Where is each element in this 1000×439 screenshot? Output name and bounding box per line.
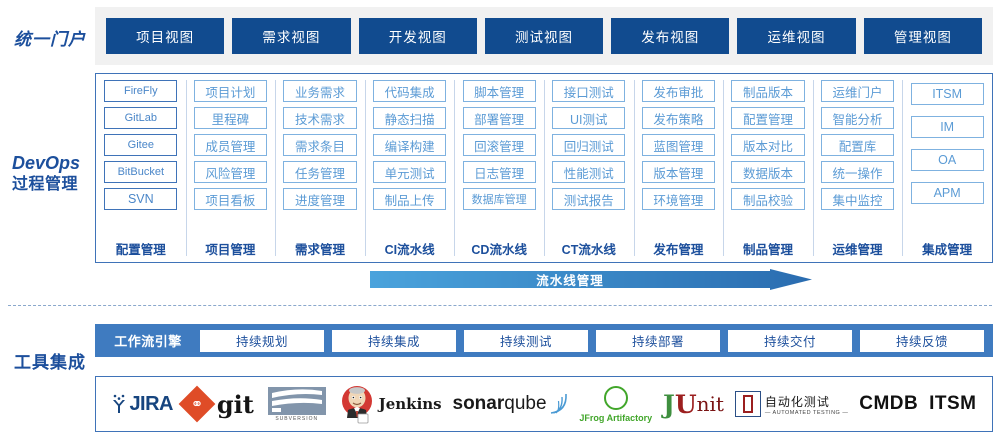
devops-row-label-en: DevOps: [12, 152, 80, 175]
devops-column-cells: ITSMIMOAAPM: [907, 80, 987, 236]
devops-capability-cell[interactable]: 制品校验: [731, 188, 804, 210]
portal-view-button[interactable]: 需求视图: [232, 18, 350, 54]
jenkins-logo: Jenkins: [340, 381, 442, 427]
devops-capability-cell[interactable]: 成员管理: [194, 134, 267, 156]
devops-capability-cell[interactable]: 回归测试: [552, 134, 625, 156]
sonarqube-logo-text-light: qube: [504, 393, 546, 415]
jenkins-logo-text: Jenkins: [379, 395, 442, 413]
devops-capability-cell[interactable]: 代码集成: [373, 80, 446, 102]
devops-column-title: 项目管理: [205, 239, 255, 258]
automated-testing-logo: 自动化测试 — AUTOMATED TESTING —: [735, 381, 849, 427]
workflow-stage[interactable]: 持续测试: [464, 330, 588, 352]
devops-capability-cell[interactable]: 配置库: [821, 134, 894, 156]
devops-capability-cell[interactable]: Gitee: [104, 134, 177, 156]
subversion-logo: SUBVERSION: [265, 381, 329, 427]
devops-column-cells: 脚本管理部署管理回滚管理日志管理数据库管理: [459, 80, 539, 236]
devops-column-cells: 制品版本配置管理版本对比数据版本制品校验: [728, 80, 808, 236]
devops-capability-cell[interactable]: SVN: [104, 188, 177, 210]
section-divider: [8, 305, 992, 306]
devops-row-label-cn: 过程管理: [12, 175, 80, 195]
devops-column: FireFlyGitLabGiteeBitBucketSVN配置管理: [96, 74, 186, 262]
cmdb-logo: CMDB: [859, 381, 918, 427]
devops-column-cells: 业务需求技术需求需求条目任务管理进度管理: [280, 80, 360, 236]
devops-column-title: 运维管理: [833, 239, 883, 258]
tool-logo-strip: JIRA ⚭ git SUBVERSION: [95, 376, 993, 432]
devops-capability-cell[interactable]: 性能测试: [552, 161, 625, 183]
devops-capability-cell[interactable]: 进度管理: [283, 188, 356, 210]
devops-capability-cell[interactable]: 智能分析: [821, 107, 894, 129]
devops-column-title: CD流水线: [471, 239, 527, 258]
portal-row-label: 统一门户: [14, 29, 86, 50]
devops-column-cells: 项目计划里程碑成员管理风险管理项目看板: [191, 80, 271, 236]
devops-capability-cell[interactable]: FireFly: [104, 80, 177, 102]
jira-mark-icon: [111, 394, 127, 414]
devops-capability-cell[interactable]: IM: [911, 116, 984, 138]
devops-column-title: 发布管理: [653, 239, 703, 258]
git-logo-text: git: [217, 390, 254, 419]
devops-column: 脚本管理部署管理回滚管理日志管理数据库管理CD流水线: [454, 74, 544, 262]
sonarqube-wave-icon: [549, 393, 569, 415]
junit-logo-text-u: U: [675, 390, 697, 419]
jfrog-ring-icon: [604, 386, 628, 410]
git-logo: ⚭ git: [184, 381, 254, 427]
devops-column-title: 集成管理: [922, 239, 972, 258]
junit-logo: JUnit: [663, 381, 724, 427]
devops-capability-cell[interactable]: 技术需求: [283, 107, 356, 129]
devops-capability-cell[interactable]: 任务管理: [283, 161, 356, 183]
devops-capability-cell[interactable]: 运维门户: [821, 80, 894, 102]
tools-row-label: 工具集成: [14, 352, 86, 373]
sonarqube-logo: sonarqube: [453, 381, 569, 427]
devops-capability-cell[interactable]: 环境管理: [642, 188, 715, 210]
devops-column-title: CT流水线: [562, 239, 616, 258]
jfrog-artifactory-logo: JFrog Artifactory: [579, 381, 652, 427]
devops-column: 接口测试UI测试回归测试性能测试测试报告CT流水线: [544, 74, 634, 262]
devops-column: ITSMIMOAAPM集成管理: [902, 74, 992, 262]
automated-testing-mark-icon: [735, 391, 761, 417]
devops-column: 项目计划里程碑成员管理风险管理项目看板项目管理: [186, 74, 276, 262]
workflow-stage[interactable]: 持续集成: [332, 330, 456, 352]
jira-logo-text: JIRA: [129, 393, 173, 416]
workflow-stage[interactable]: 持续反馈: [860, 330, 984, 352]
devops-capability-cell[interactable]: 发布审批: [642, 80, 715, 102]
sonarqube-logo-text-bold: sonar: [453, 393, 505, 415]
subversion-mark-icon: [268, 387, 326, 415]
devops-column-cells: 接口测试UI测试回归测试性能测试测试报告: [549, 80, 629, 236]
devops-capability-cell[interactable]: 版本管理: [642, 161, 715, 183]
workflow-stage[interactable]: 持续规划: [200, 330, 324, 352]
devops-capability-cell[interactable]: 接口测试: [552, 80, 625, 102]
devops-capability-cell[interactable]: GitLab: [104, 107, 177, 129]
devops-capability-cell[interactable]: ITSM: [911, 83, 984, 105]
portal-view-button[interactable]: 管理视图: [864, 18, 982, 54]
devops-capability-cell[interactable]: 回滚管理: [463, 134, 536, 156]
devops-capability-cell[interactable]: 日志管理: [463, 161, 536, 183]
devops-capability-cell[interactable]: 风险管理: [194, 161, 267, 183]
devops-column: 业务需求技术需求需求条目任务管理进度管理需求管理: [275, 74, 365, 262]
portal-view-button[interactable]: 运维视图: [737, 18, 855, 54]
pipeline-arrow-label: 流水线管理: [370, 269, 770, 290]
devops-capability-cell[interactable]: 版本对比: [731, 134, 804, 156]
devops-column-cells: 代码集成静态扫描编译构建单元测试制品上传: [370, 80, 450, 236]
devops-capability-cell[interactable]: 发布策略: [642, 107, 715, 129]
devops-capability-cell[interactable]: 里程碑: [194, 107, 267, 129]
devops-column-title: 需求管理: [295, 239, 345, 258]
devops-column-title: 配置管理: [116, 239, 166, 258]
devops-capability-cell[interactable]: 需求条目: [283, 134, 356, 156]
subversion-logo-text: SUBVERSION: [275, 416, 318, 422]
devops-column: 代码集成静态扫描编译构建单元测试制品上传CI流水线: [365, 74, 455, 262]
devops-column-title: CI流水线: [385, 239, 435, 258]
devops-capability-panel: FireFlyGitLabGiteeBitBucketSVN配置管理项目计划里程…: [95, 73, 993, 263]
portal-view-button[interactable]: 测试视图: [485, 18, 603, 54]
devops-capability-cell[interactable]: 静态扫描: [373, 107, 446, 129]
portal-view-button[interactable]: 发布视图: [611, 18, 729, 54]
devops-capability-cell[interactable]: 部署管理: [463, 107, 536, 129]
jira-logo: JIRA: [111, 381, 173, 427]
devops-column-cells: FireFlyGitLabGiteeBitBucketSVN: [101, 80, 181, 236]
devops-capability-cell[interactable]: 编译构建: [373, 134, 446, 156]
devops-capability-cell[interactable]: 统一操作: [821, 161, 894, 183]
devops-column-cells: 运维门户智能分析配置库统一操作集中监控: [818, 80, 898, 236]
devops-capability-cell[interactable]: 脚本管理: [463, 80, 536, 102]
devops-capability-cell[interactable]: 数据版本: [731, 161, 804, 183]
devops-capability-cell[interactable]: 数据库管理: [463, 188, 536, 210]
devops-capability-cell[interactable]: 项目计划: [194, 80, 267, 102]
devops-row-label: DevOps 过程管理: [12, 152, 80, 195]
devops-capability-cell[interactable]: 制品上传: [373, 188, 446, 210]
junit-logo-text-rest: nit: [697, 392, 724, 416]
devops-column: 运维门户智能分析配置库统一操作集中监控运维管理: [813, 74, 903, 262]
devops-capability-cell[interactable]: 项目看板: [194, 188, 267, 210]
devops-capability-cell[interactable]: 业务需求: [283, 80, 356, 102]
devops-capability-cell[interactable]: OA: [911, 149, 984, 171]
devops-column-cells: 发布审批发布策略蓝图管理版本管理环境管理: [639, 80, 719, 236]
devops-capability-cell[interactable]: 蓝图管理: [642, 134, 715, 156]
devops-capability-cell[interactable]: 测试报告: [552, 188, 625, 210]
pipeline-arrow: 流水线管理: [370, 269, 812, 290]
workflow-engine-label: 工作流引擎: [100, 331, 196, 350]
workflow-stage[interactable]: 持续部署: [596, 330, 720, 352]
jenkins-butler-icon: [340, 384, 374, 424]
automated-testing-text-en: — AUTOMATED TESTING —: [765, 410, 849, 416]
automated-testing-text-cn: 自动化测试: [765, 393, 849, 410]
git-mark-icon: ⚭: [179, 386, 216, 423]
devops-capability-cell[interactable]: 集中监控: [821, 188, 894, 210]
devops-column: 制品版本配置管理版本对比数据版本制品校验制品管理: [723, 74, 813, 262]
portal-view-bar: 项目视图 需求视图 开发视图 测试视图 发布视图 运维视图 管理视图: [95, 7, 993, 65]
junit-logo-text-j: J: [663, 390, 675, 419]
workflow-engine-bar: 工作流引擎 持续规划 持续集成 持续测试 持续部署 持续交付 持续反馈: [95, 324, 993, 357]
portal-view-button[interactable]: 项目视图: [106, 18, 224, 54]
devops-column: 发布审批发布策略蓝图管理版本管理环境管理发布管理: [634, 74, 724, 262]
devops-capability-cell[interactable]: 单元测试: [373, 161, 446, 183]
devops-capability-cell[interactable]: BitBucket: [104, 161, 177, 183]
itsm-logo: ITSM: [929, 381, 976, 427]
devops-capability-cell[interactable]: UI测试: [552, 107, 625, 129]
portal-view-button[interactable]: 开发视图: [359, 18, 477, 54]
jfrog-logo-text: JFrog Artifactory: [579, 413, 652, 423]
devops-column-title: 制品管理: [743, 239, 793, 258]
devops-capability-cell[interactable]: 制品版本: [731, 80, 804, 102]
devops-capability-cell[interactable]: 配置管理: [731, 107, 804, 129]
devops-capability-cell[interactable]: APM: [911, 182, 984, 204]
workflow-stage[interactable]: 持续交付: [728, 330, 852, 352]
